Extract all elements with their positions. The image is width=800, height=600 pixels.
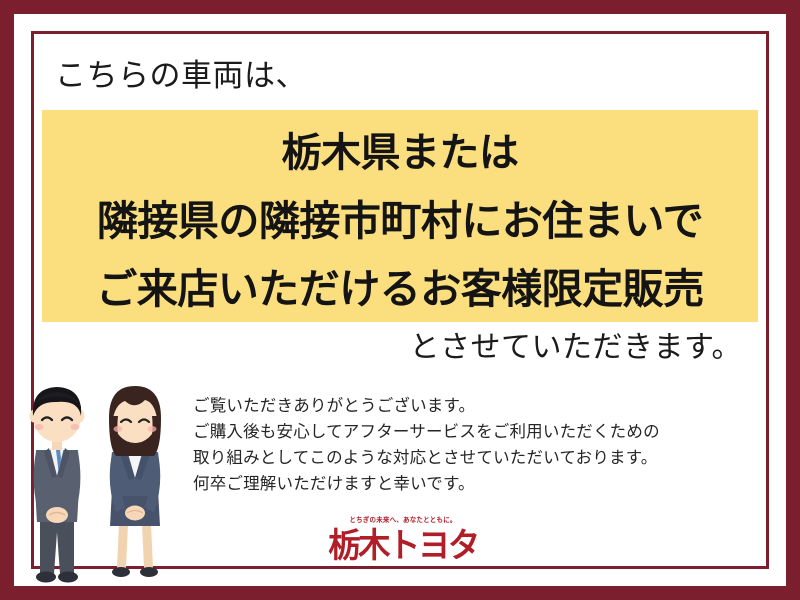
bowing-man-figure bbox=[30, 387, 85, 583]
note-line-3: 取り組みとしてこのような対応とさせていただいております。 bbox=[193, 445, 753, 471]
poster-content: こちらの車両は、 栃木県または 隣接県の隣接市町村にお住まいで ご来店いただける… bbox=[0, 0, 800, 600]
dealer-notice-poster: こちらの車両は、 栃木県または 隣接県の隣接市町村にお住まいで ご来店いただける… bbox=[0, 0, 800, 600]
bowing-staff-illustration bbox=[14, 372, 194, 588]
note-line-4: 何卒ご理解いただけますと幸いです。 bbox=[193, 471, 753, 497]
tail-line: とさせていただきます。 bbox=[410, 330, 743, 366]
highlight-line-3: ご来店いただけるお客様限定販売 bbox=[42, 255, 758, 323]
logo-tagline: とちぎの未来へ、あなたとともに。 bbox=[318, 516, 488, 525]
toyota-dealer-logo: とちぎの未来へ、あなたとともに。 栃木トヨタ bbox=[318, 516, 488, 565]
lead-line: こちらの車両は、 bbox=[55, 58, 307, 94]
note-line-2: ご購入後も安心してアフターサービスをご利用いただくための bbox=[193, 419, 753, 445]
note-paragraph: ご覧いただきありがとうございます。 ご購入後も安心してアフターサービスをご利用い… bbox=[193, 393, 753, 497]
bowing-woman-figure bbox=[109, 386, 161, 577]
highlight-block: 栃木県または 隣接県の隣接市町村にお住まいで ご来店いただけるお客様限定販売 bbox=[42, 110, 758, 322]
logo-wordmark: 栃木トヨタ bbox=[322, 527, 484, 565]
highlight-line-1: 栃木県または bbox=[42, 119, 758, 187]
highlight-line-2: 隣接県の隣接市町村にお住まいで bbox=[42, 187, 758, 255]
note-line-1: ご覧いただきありがとうございます。 bbox=[193, 393, 753, 419]
